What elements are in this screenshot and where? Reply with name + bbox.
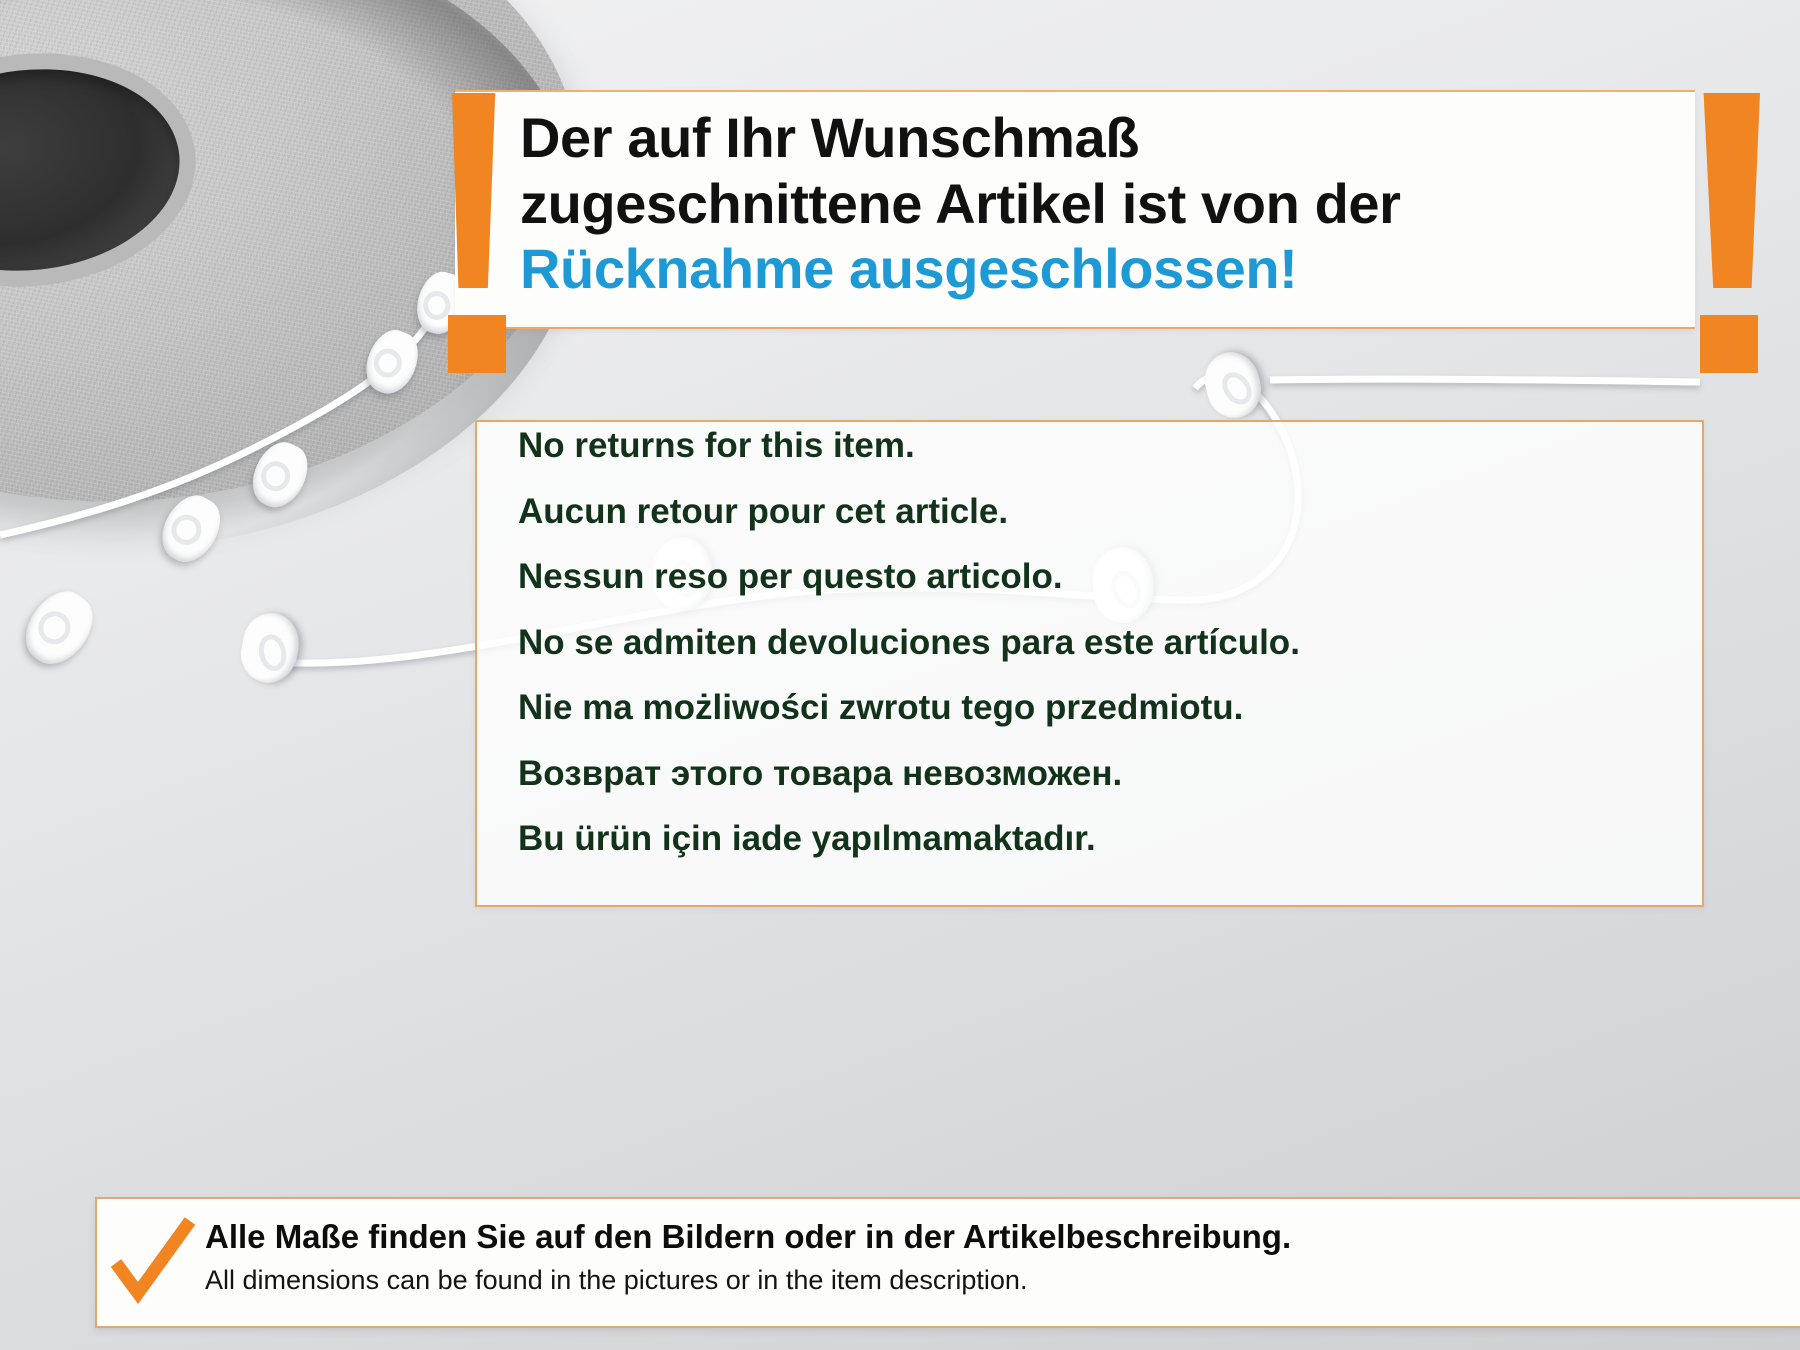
dimensions-note-english: All dimensions can be found in the pictu… bbox=[205, 1265, 1775, 1297]
dimensions-note-panel bbox=[95, 1197, 1800, 1328]
headline-line-1: Der auf Ihr Wunschmaß bbox=[520, 105, 1650, 171]
list-item: No returns for this item. bbox=[518, 428, 1688, 463]
exclamation-mark-left-icon bbox=[452, 93, 498, 288]
dimensions-note-german: Alle Maße finden Sie auf den Bildern ode… bbox=[205, 1218, 1775, 1257]
promo-banner: Der auf Ihr Wunschmaß zugeschnittene Art… bbox=[0, 0, 1800, 1350]
list-item: Nessun reso per questo articolo. bbox=[518, 559, 1688, 594]
headline-text: Der auf Ihr Wunschmaß zugeschnittene Art… bbox=[520, 105, 1650, 302]
headline-line-2: zugeschnittene Artikel ist von der bbox=[520, 171, 1650, 237]
list-item: Nie ma możliwości zwrotu tego przedmiotu… bbox=[518, 690, 1688, 725]
list-item: No se admiten devoluciones para este art… bbox=[518, 625, 1688, 660]
multilingual-list: No returns for this item. Aucun retour p… bbox=[518, 428, 1688, 887]
list-item: Возврат этого товара невозможен. bbox=[518, 756, 1688, 791]
exclamation-mark-right-icon bbox=[1700, 93, 1760, 288]
headline-line-3-highlight: Rücknahme ausgeschlossen! bbox=[520, 236, 1650, 302]
check-mark-icon bbox=[110, 1215, 196, 1305]
list-item: Bu ürün için iade yapılmamaktadır. bbox=[518, 821, 1688, 856]
list-item: Aucun retour pour cet article. bbox=[518, 494, 1688, 529]
